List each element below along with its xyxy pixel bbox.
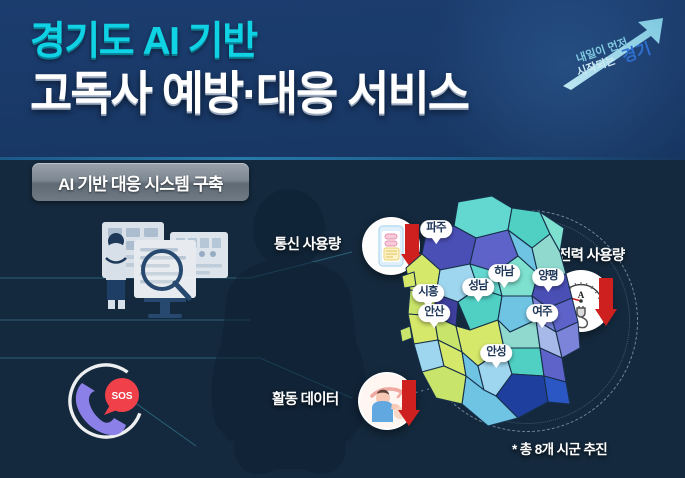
poster-title-block: 경기도 AI 기반 고독사 예방·대응 서비스: [30, 22, 468, 116]
map-pin-label: 성남: [462, 278, 494, 296]
map-pin-label: 양평: [532, 268, 564, 286]
indicator-label-communication: 통신 사용량: [274, 233, 341, 254]
map-pin-label: 여주: [526, 304, 558, 322]
map-note: * 총 8개 시군 추진: [512, 438, 607, 458]
sos-bubble: SOS: [104, 378, 139, 415]
sos-label: SOS: [111, 391, 132, 402]
map-pin-label: 파주: [420, 220, 452, 238]
infographic-poster: 경기도 AI 기반 고독사 예방·대응 서비스 내일이 먼저 시작되는 경기: [0, 0, 685, 478]
title-line-1: 경기도 AI 기반: [30, 22, 468, 61]
poster-header: 경기도 AI 기반 고독사 예방·대응 서비스 내일이 먼저 시작되는 경기: [0, 0, 685, 160]
poster-body: SOS 통신 사용량 활동 데이터 전력 사용량: [0, 160, 685, 478]
sos-phone-call-icon: SOS: [60, 355, 152, 447]
map-pin-label: 시흥: [412, 284, 444, 302]
data-monitoring-dashboard-illustration: [86, 208, 256, 320]
analyst-person: [106, 233, 126, 309]
map-pin-label: 안성: [480, 344, 512, 362]
map-pin-label: 안산: [418, 304, 450, 322]
map-pin-label: 하남: [488, 264, 520, 282]
indicator-label-activity: 활동 데이터: [272, 388, 339, 409]
title-line-2: 고독사 예방·대응 서비스: [30, 70, 468, 116]
gyeonggi-logo: 내일이 먼저 시작되는 경기: [559, 14, 671, 92]
